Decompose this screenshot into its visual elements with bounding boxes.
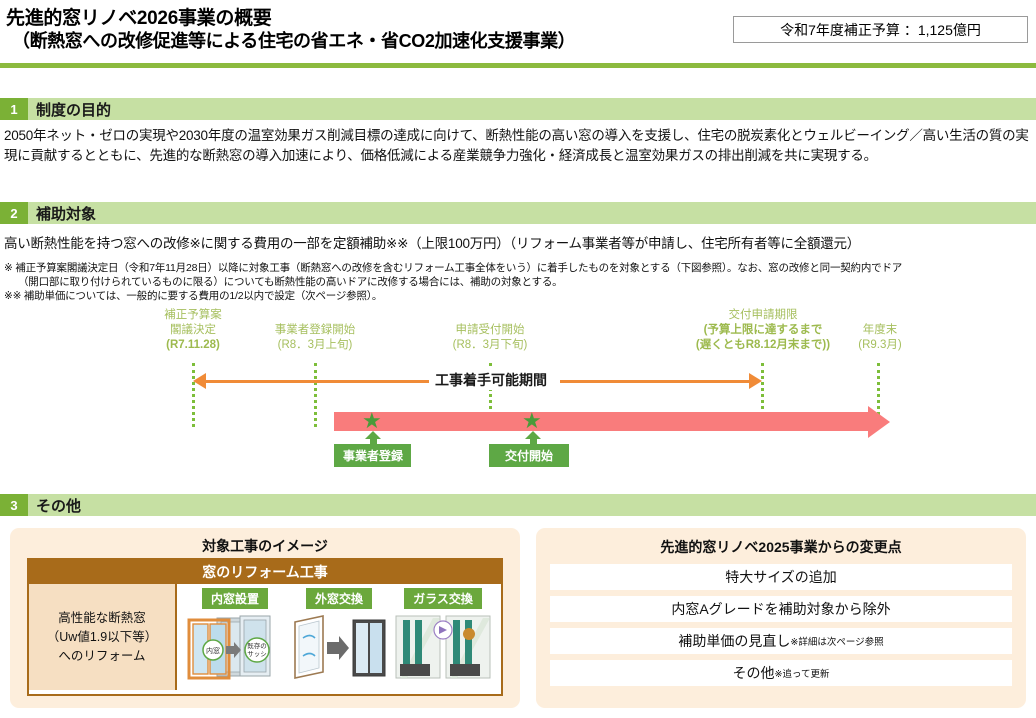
target-work-kinds: 内窓設置 内窓 — [177, 584, 501, 690]
period-caption: 工事着手可能期間 — [429, 370, 553, 390]
milestone-label-0: 補正予算案 閣議決定 (R7.11.28) — [133, 308, 253, 353]
work-kind-inner-window-illustration: 内窓 既存の サッシ — [185, 612, 285, 684]
milestone-0-line2: 閣議決定 — [133, 323, 253, 338]
work-kind-inner-window-label: 内窓設置 — [202, 588, 268, 609]
budget-badge: 令和7年度補正予算 ：1,125億円 — [733, 16, 1028, 43]
target-work-table: 窓のリフォーム工事 高性能な断熱窓 （Uw値1.9以下等） へのリフォーム 内窓… — [27, 558, 503, 696]
change-row-1-text: 内窓Aグレードを補助対象から除外 — [671, 599, 890, 619]
badge-grant-start: 交付開始 — [489, 444, 569, 467]
milestone-label-1: 事業者登録開始 (R8．3月上旬) — [255, 323, 375, 353]
section-header-3: 3 その他 — [0, 494, 1036, 516]
section-title-1: 制度の目的 — [36, 98, 111, 120]
header-divider — [0, 63, 1036, 68]
work-kind-outer-window: 外窓交換 — [289, 588, 389, 690]
section-number-2: 2 — [0, 202, 28, 224]
period-arrow-line-left — [205, 380, 429, 383]
left-cell-line2: （Uw値1.9以下等） — [47, 628, 157, 647]
panel-changes-title: 先進的窓リノベ2025事業からの変更点 — [536, 537, 1026, 557]
page-title: 先進的窓リノベ2026事業の概要 — [6, 3, 271, 30]
schedule-timeline: 補正予算案 閣議決定 (R7.11.28) 事業者登録開始 (R8．3月上旬) … — [0, 300, 1036, 485]
section-number-3: 3 — [0, 494, 28, 516]
milestone-1-line2: 事業者登録開始 — [255, 323, 375, 338]
target-work-left-cell: 高性能な断熱窓 （Uw値1.9以下等） へのリフォーム — [29, 584, 177, 690]
section-2-body: 高い断熱性能を持つ窓への改修※に関する費用の一部を定額補助※※（上限100万円）… — [4, 234, 1032, 254]
change-row-3-text: その他 — [733, 663, 775, 683]
left-cell-line3: へのリフォーム — [58, 647, 145, 666]
svg-text:内窓: 内窓 — [206, 646, 220, 655]
change-row-2-note: ※詳細は次ページ参照 — [790, 634, 883, 648]
svg-text:サッシ: サッシ — [247, 650, 267, 658]
period-arrow-line-right — [560, 380, 750, 383]
change-row-0: 特大サイズの追加 — [550, 564, 1012, 590]
change-row-2-text: 補助単価の見直し — [678, 631, 790, 651]
change-row-2: 補助単価の見直し ※詳細は次ページ参照 — [550, 628, 1012, 654]
subsidy-period-arrow-head — [868, 406, 890, 438]
section-2-note-1: ※ 補正予算案閣議決定日（令和7年11月28日）以降に対象工事（断熱窓への改修を… — [4, 261, 1032, 275]
change-row-3-note: ※追って更新 — [775, 666, 830, 680]
panel-target-work: 対象工事のイメージ 窓のリフォーム工事 高性能な断熱窓 （Uw値1.9以下等） … — [10, 528, 520, 708]
section-title-2: 補助対象 — [36, 202, 96, 224]
panel-target-work-title: 対象工事のイメージ — [10, 536, 520, 556]
milestone-4-date: (R9.3月) — [830, 338, 930, 353]
badge-registration: 事業者登録 — [334, 444, 411, 467]
section-title-3: その他 — [36, 494, 81, 516]
section-header-1: 1 制度の目的 — [0, 98, 1036, 120]
period-arrow-right-head — [749, 373, 762, 389]
section-1-body: 2050年ネット・ゼロの実現や2030年度の温室効果ガス削減目標の達成に向けて、… — [4, 126, 1032, 166]
milestone-0-line1: 補正予算案 — [133, 308, 253, 323]
section-2-note-1b: （開口部に取り付けられているものに限る）についても断熱性能の高いドアに改修する場… — [4, 275, 1032, 289]
target-work-table-header: 窓のリフォーム工事 — [29, 560, 501, 584]
work-kind-glass-illustration — [393, 612, 493, 684]
work-kind-glass: ガラス交換 — [393, 588, 493, 690]
milestone-4-line2: 年度末 — [830, 323, 930, 338]
guide-line-1 — [314, 363, 317, 427]
target-work-table-body: 高性能な断熱窓 （Uw値1.9以下等） へのリフォーム 内窓設置 — [29, 584, 501, 690]
subsidy-period-bar — [334, 412, 870, 431]
milestone-0-date: (R7.11.28) — [133, 338, 253, 353]
milestone-2-date: (R8．3月下旬) — [430, 338, 550, 353]
milestone-3-line2: 交付申請期限 — [668, 308, 858, 323]
work-kind-outer-window-illustration — [289, 612, 389, 684]
change-row-1: 内窓Aグレードを補助対象から除外 — [550, 596, 1012, 622]
milestone-label-2: 申請受付開始 (R8．3月下旬) — [430, 323, 550, 353]
work-kind-inner-window: 内窓設置 内窓 — [185, 588, 285, 690]
milestone-1-date: (R8．3月上旬) — [255, 338, 375, 353]
page-subtitle: （断熱窓への改修促進等による住宅の省エネ・省CO2加速化支援事業） — [12, 27, 575, 53]
milestone-label-4: 年度末 (R9.3月) — [830, 323, 930, 353]
change-row-0-text: 特大サイズの追加 — [725, 567, 837, 587]
panel-changes: 先進的窓リノベ2025事業からの変更点 特大サイズの追加 内窓Aグレードを補助対… — [536, 528, 1026, 708]
star-icon-registration: ★ — [362, 410, 382, 432]
section-number-1: 1 — [0, 98, 28, 120]
work-kind-glass-label: ガラス交換 — [404, 588, 482, 609]
work-kind-outer-window-label: 外窓交換 — [306, 588, 372, 609]
milestone-2-line2: 申請受付開始 — [430, 323, 550, 338]
change-row-3: その他 ※追って更新 — [550, 660, 1012, 686]
page-header: 先進的窓リノベ2026事業の概要 （断熱窓への改修促進等による住宅の省エネ・省C… — [0, 0, 1036, 58]
star-icon-grant-start: ★ — [522, 410, 542, 432]
section-header-2: 2 補助対象 — [0, 202, 1036, 224]
left-cell-line1: 高性能な断熱窓 — [58, 609, 146, 628]
svg-text:既存の: 既存の — [247, 641, 267, 650]
